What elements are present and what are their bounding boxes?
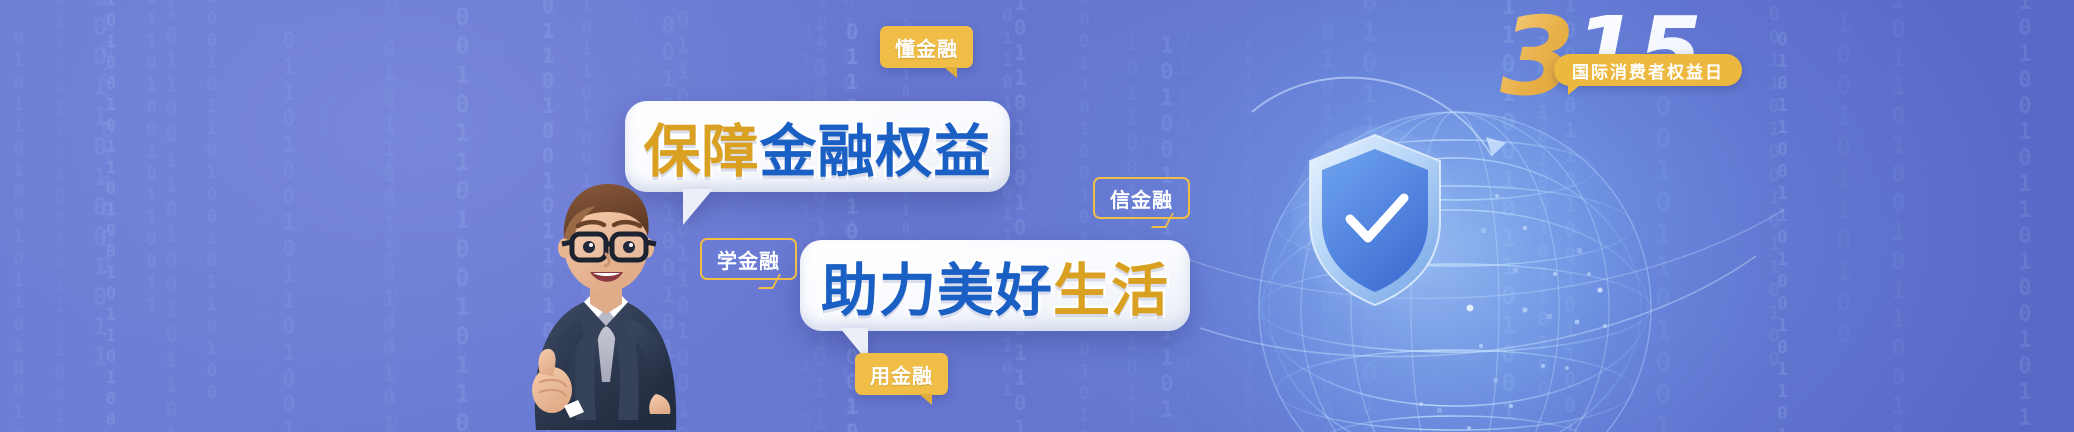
binary-column: 011010010110011 <box>142 0 161 432</box>
tag-yong-jinrong-label: 用金融 <box>870 360 933 389</box>
tag-yong-jinrong[interactable]: 用金融 <box>855 353 948 395</box>
binary-column: 0110011010010110100101101001011 <box>50 0 69 432</box>
binary-column: 10100101101001011 <box>2013 0 2036 432</box>
headline-2-gold: 生活 <box>1053 258 1169 324</box>
binary-column: 101101001011001101001011 <box>1009 0 1031 432</box>
headline-2-blue: 助力美好 <box>821 258 1053 324</box>
tag-xue-jinrong[interactable]: 学金融 <box>700 238 797 280</box>
headline-2: 助力美好生活 <box>821 245 1169 327</box>
businessman-thumbs-up-icon <box>480 168 710 432</box>
binary-column: 1001011010010110100 <box>202 0 221 432</box>
binary-column: 01100110100101101001011010 <box>255 22 271 432</box>
logo-315-badge-label: 国际消费者权益日 <box>1572 58 1724 83</box>
binary-column: 00101101001011010010110 <box>449 3 474 432</box>
binary-column: 011010010110100101101001011001 <box>277 29 300 432</box>
tag-xue-jinrong-label: 学金融 <box>717 245 780 274</box>
tag-xin-jinrong-label: 信金融 <box>1110 184 1173 213</box>
binary-column: 0101101001011010010110011010 <box>9 28 28 432</box>
binary-column: 1001101001011010010110100 <box>1075 0 1094 432</box>
tag-dong-jinrong[interactable]: 懂金融 <box>880 26 973 68</box>
binary-column: 01001011001 <box>95 0 119 432</box>
binary-column: 100110100101101001011010010110 <box>805 21 834 432</box>
binary-column: 0010110100101101001011001101001 <box>380 0 403 432</box>
headline-bubble-2: 助力美好生活 <box>800 240 1190 331</box>
shield-check-icon <box>1290 125 1460 315</box>
tag-dong-jinrong-label: 懂金融 <box>895 33 958 62</box>
binary-column: 1011010010110011010 <box>1885 0 1910 432</box>
banner-315-financial-rights: 1011001101001011001011010010110011010001… <box>0 0 2074 432</box>
binary-column: 101100110100101101001011 <box>160 0 182 432</box>
tag-xin-jinrong[interactable]: 信金融 <box>1093 177 1190 219</box>
logo-315-digit-15: 15 <box>1574 0 1702 104</box>
logo-315-badge: 国际消费者权益日 <box>1554 54 1742 86</box>
headline-1-blue: 金融权益 <box>760 119 992 185</box>
